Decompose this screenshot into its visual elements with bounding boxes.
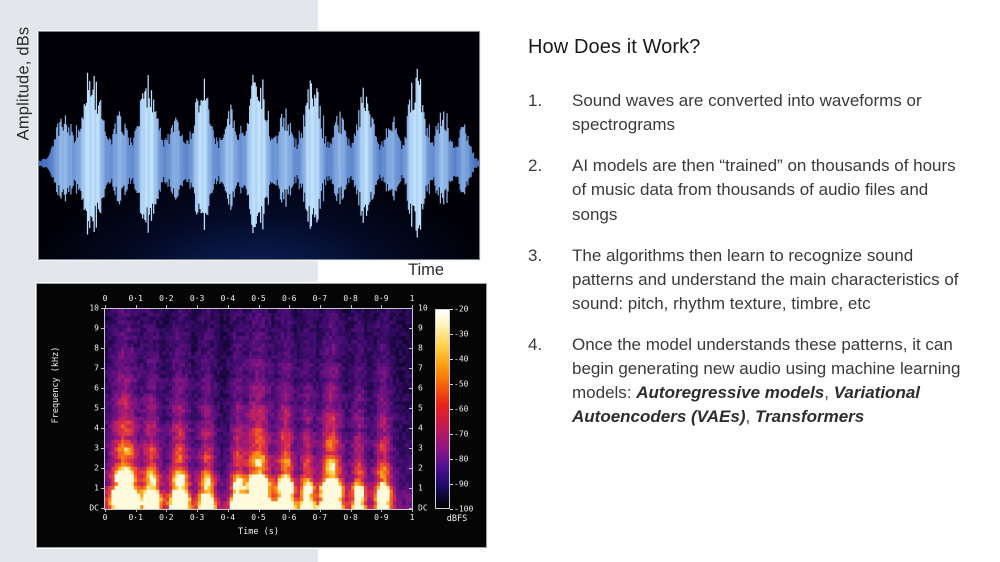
spectrogram-right-tick-label: 7: [418, 364, 440, 373]
spectrogram-left-tick: [101, 508, 105, 509]
spectrogram-top-tick: [105, 305, 106, 308]
colorbar-tick: [450, 459, 453, 460]
spectrogram-left-tick: [101, 408, 105, 409]
list-item: 3.The algorithms then learn to recognize…: [528, 244, 968, 316]
spectrogram-left-tick: [101, 368, 105, 369]
spectrogram-left-tick-label: 8: [77, 344, 99, 353]
waveform-figure: [38, 31, 480, 260]
colorbar-tick-label: -70: [454, 430, 468, 439]
spectrogram-left-tick-label: 2: [77, 464, 99, 473]
colorbar-tick-label: -50: [454, 380, 468, 389]
spectrogram-bottom-tick: [105, 509, 106, 512]
spectrogram-right-tick-label: 10: [418, 304, 440, 313]
spectrogram-left-tick: [101, 328, 105, 329]
spectrogram-bottom-tick: [228, 509, 229, 512]
spectrogram-figure: Frequency (kHz) Time (s) dBFS -20-30-40-…: [36, 283, 487, 548]
spectrogram-top-tick-label: 0·2: [159, 294, 173, 303]
spectrogram-right-tick: [409, 508, 413, 509]
spectrogram-right-tick: [409, 428, 413, 429]
spectrogram-right-tick: [409, 308, 413, 309]
spectrogram-right-tick: [409, 348, 413, 349]
colorbar-tick-label: -40: [454, 355, 468, 364]
spectrogram-bottom-tick: [289, 509, 290, 512]
spectrogram-right-tick: [409, 328, 413, 329]
spectrogram-bottom-tick-label: 0·5: [251, 513, 265, 522]
spectrogram-top-tick-label: 0·5: [251, 294, 265, 303]
list-item: 4.Once the model understands these patte…: [528, 333, 968, 430]
colorbar-tick-label: -30: [454, 330, 468, 339]
spectrogram-bottom-tick-label: 0·8: [343, 513, 357, 522]
spectrogram-bottom-tick-label: 0: [103, 513, 108, 522]
spectrogram-left-tick-label: 4: [77, 424, 99, 433]
page-title: How Does it Work?: [528, 36, 968, 59]
spectrogram-top-tick-label: 0·7: [313, 294, 327, 303]
spectrogram-right-tick: [409, 408, 413, 409]
spectrogram-right-tick-label: 9: [418, 324, 440, 333]
spectrogram-top-tick: [320, 305, 321, 308]
spectrogram-right-tick-label: 4: [418, 424, 440, 433]
bullet-text: Sound waves are converted into waveforms…: [572, 89, 968, 137]
colorbar-tick: [450, 509, 453, 510]
spectrogram-left-tick: [101, 428, 105, 429]
waveform-y-axis-label: Amplitude, dBs: [15, 0, 34, 184]
spectrogram-x-axis-label: Time (s): [105, 527, 412, 537]
spectrogram-top-tick: [289, 305, 290, 308]
spectrogram-left-tick: [101, 308, 105, 309]
spectrogram-right-tick-label: DC: [418, 504, 440, 513]
spectrogram-left-tick-label: 7: [77, 364, 99, 373]
bullet-emphasis: Transformers: [755, 407, 864, 426]
spectrogram-left-tick-label: DC: [77, 504, 99, 513]
spectrogram-bottom-tick: [320, 509, 321, 512]
colorbar-tick-label: -60: [454, 405, 468, 414]
bullet-number: 3.: [528, 244, 572, 268]
spectrogram-right-tick: [409, 448, 413, 449]
spectrogram-frame-right: [412, 308, 413, 510]
spectrogram-top-tick-label: 0·3: [190, 294, 204, 303]
list-item: 1.Sound waves are converted into wavefor…: [528, 89, 968, 137]
content-column: How Does it Work? 1.Sound waves are conv…: [528, 36, 968, 447]
spectrogram-bottom-tick-label: 1: [410, 513, 415, 522]
colorbar-tick-label: -100: [454, 505, 473, 514]
spectrogram-right-tick: [409, 368, 413, 369]
waveform-plot: [39, 32, 479, 259]
spectrogram-left-tick-label: 1: [77, 484, 99, 493]
spectrogram-left-tick: [101, 448, 105, 449]
spectrogram-plot-area: [105, 309, 412, 509]
spectrogram-left-tick-label: 6: [77, 384, 99, 393]
spectrogram-top-tick: [381, 305, 382, 308]
spectrogram-heatmap: [105, 309, 412, 509]
colorbar-tick-label: -20: [454, 305, 468, 314]
spectrogram-bottom-tick-label: 0·1: [128, 513, 142, 522]
colorbar-unit-label: dBFS: [435, 514, 479, 524]
colorbar-tick: [450, 359, 453, 360]
spectrogram-bottom-tick-label: 0·9: [374, 513, 388, 522]
spectrogram-left-tick: [101, 488, 105, 489]
bullet-emphasis: Autoregressive models: [636, 383, 824, 402]
spectrogram-left-tick: [101, 468, 105, 469]
colorbar-tick: [450, 384, 453, 385]
colorbar-tick-label: -90: [454, 480, 468, 489]
spectrogram-top-tick: [259, 305, 260, 308]
spectrogram-right-tick-label: 6: [418, 384, 440, 393]
spectrogram-left-tick-label: 10: [77, 304, 99, 313]
spectrogram-bottom-tick-label: 0·2: [159, 513, 173, 522]
spectrogram-right-tick-label: 5: [418, 404, 440, 413]
colorbar-tick: [450, 484, 453, 485]
spectrogram-left-tick: [101, 348, 105, 349]
spectrogram-right-tick-label: 1: [418, 484, 440, 493]
spectrogram-right-tick: [409, 468, 413, 469]
spectrogram-top-tick-label: 0·9: [374, 294, 388, 303]
spectrogram-right-tick-label: 8: [418, 344, 440, 353]
spectrogram-right-tick-label: 2: [418, 464, 440, 473]
spectrogram-frame-top: [105, 308, 413, 309]
bullet-text: AI models are then “trained” on thousand…: [572, 154, 968, 226]
spectrogram-right-tick: [409, 388, 413, 389]
bullet-number: 4.: [528, 333, 572, 357]
spectrogram-top-tick-label: 0·4: [221, 294, 235, 303]
spectrogram-bottom-tick-label: 0·4: [221, 513, 235, 522]
spectrogram-top-tick: [197, 305, 198, 308]
spectrogram-bottom-tick: [166, 509, 167, 512]
spectrogram-bottom-tick: [197, 509, 198, 512]
spectrogram-right-tick-label: 3: [418, 444, 440, 453]
colorbar-tick: [450, 434, 453, 435]
bullet-text: Once the model understands these pattern…: [572, 333, 968, 430]
waveform-x-axis-label: Time: [408, 261, 444, 280]
bullet-number: 1.: [528, 89, 572, 113]
spectrogram-left-tick-label: 9: [77, 324, 99, 333]
bullet-list: 1.Sound waves are converted into wavefor…: [528, 89, 968, 430]
spectrogram-bottom-tick: [259, 509, 260, 512]
spectrogram-top-tick: [351, 305, 352, 308]
spectrogram-left-tick-label: 5: [77, 404, 99, 413]
spectrogram-top-tick-label: 0: [103, 294, 108, 303]
spectrogram-bottom-tick: [351, 509, 352, 512]
spectrogram-bottom-tick-label: 0·7: [313, 513, 327, 522]
colorbar-tick: [450, 409, 453, 410]
spectrogram-top-tick: [228, 305, 229, 308]
spectrogram-top-tick-label: 0·6: [282, 294, 296, 303]
spectrogram-bottom-tick: [412, 509, 413, 512]
list-item: 2.AI models are then “trained” on thousa…: [528, 154, 968, 226]
spectrogram-right-tick: [409, 488, 413, 489]
spectrogram-y-axis-label: Frequency (kHz): [51, 340, 61, 430]
spectrogram-top-tick: [136, 305, 137, 308]
spectrogram-left-tick-label: 3: [77, 444, 99, 453]
spectrogram-colorbar: dBFS -20-30-40-50-60-70-80-90-100: [435, 309, 487, 524]
spectrogram-bottom-tick: [136, 509, 137, 512]
spectrogram-left-tick: [101, 388, 105, 389]
spectrogram-top-tick-label: 0·8: [343, 294, 357, 303]
bullet-text: The algorithms then learn to recognize s…: [572, 244, 968, 316]
spectrogram-top-tick-label: 1: [410, 294, 415, 303]
spectrogram-top-tick: [166, 305, 167, 308]
colorbar-tick-label: -80: [454, 455, 468, 464]
spectrogram-bottom-tick-label: 0·3: [190, 513, 204, 522]
spectrogram-top-tick-label: 0·1: [128, 294, 142, 303]
colorbar-tick: [450, 334, 453, 335]
colorbar-tick: [450, 309, 453, 310]
bullet-number: 2.: [528, 154, 572, 178]
spectrogram-bottom-tick-label: 0·6: [282, 513, 296, 522]
spectrogram-frame-left: [104, 308, 105, 510]
spectrogram-bottom-tick: [381, 509, 382, 512]
